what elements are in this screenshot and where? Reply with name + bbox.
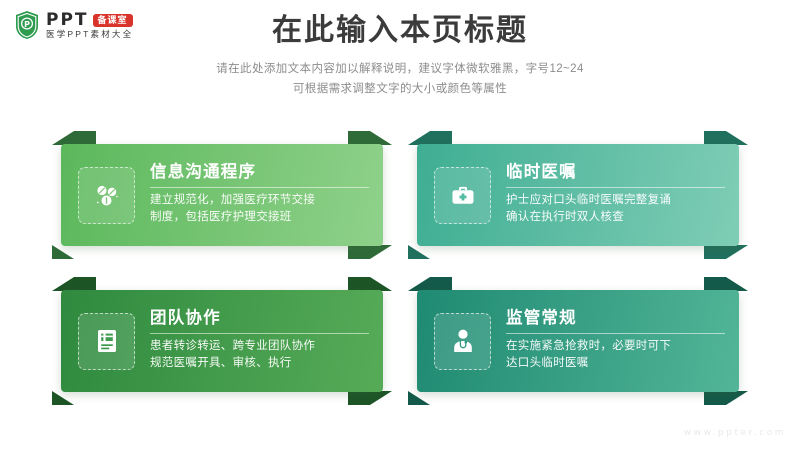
ribbon-fold-bottom-right — [704, 391, 748, 405]
card-body: 团队协作 患者转诊转运、跨专业团队协作 规范医嘱开具、审核、执行 — [61, 290, 383, 392]
card-text: 团队协作 患者转诊转运、跨专业团队协作 规范医嘱开具、审核、执行 — [150, 309, 369, 373]
ribbon-fold-top-right — [704, 277, 748, 291]
ribbon-fold-top-right — [348, 277, 392, 291]
subtitle-line: 可根据需求调整文字的大小或颜色等属性 — [0, 79, 800, 99]
card-text: 监管常规 在实施紧急抢救时，必要时可下 达口头临时医嘱 — [506, 309, 725, 373]
card-desc-line: 护士应对口头临时医嘱完整复诵 — [506, 192, 725, 210]
card-description: 在实施紧急抢救时，必要时可下 达口头临时医嘱 — [506, 338, 725, 374]
card-supervision-routine[interactable]: 监管常规 在实施紧急抢救时，必要时可下 达口头临时医嘱 — [408, 277, 748, 405]
card-info-communication[interactable]: 信息沟通程序 建立规范化，加强医疗环节交接 制度，包括医疗护理交接班 — [52, 131, 392, 259]
card-desc-line: 在实施紧急抢救时，必要时可下 — [506, 338, 725, 356]
ribbon-fold-top-left — [408, 131, 452, 145]
card-description: 建立规范化，加强医疗环节交接 制度，包括医疗护理交接班 — [150, 192, 369, 228]
card-desc-line: 制度，包括医疗护理交接班 — [150, 209, 369, 227]
page-title: 在此输入本页标题 — [0, 12, 800, 50]
icon-container — [434, 313, 491, 370]
card-text: 信息沟通程序 建立规范化，加强医疗环节交接 制度，包括医疗护理交接班 — [150, 163, 369, 227]
card-heading: 信息沟通程序 — [150, 163, 369, 188]
card-body: 监管常规 在实施紧急抢救时，必要时可下 达口头临时医嘱 — [417, 290, 739, 392]
ribbon-fold-top-left — [52, 277, 96, 291]
card-heading: 团队协作 — [150, 309, 369, 334]
ribbon-fold-bottom-left — [52, 391, 96, 405]
card-team-collaboration[interactable]: 团队协作 患者转诊转运、跨专业团队协作 规范医嘱开具、审核、执行 — [52, 277, 392, 405]
card-body: 临时医嘱 护士应对口头临时医嘱完整复诵 确认在执行时双人核查 — [417, 144, 739, 246]
card-description: 护士应对口头临时医嘱完整复诵 确认在执行时双人核查 — [506, 192, 725, 228]
card-heading: 临时医嘱 — [506, 163, 725, 188]
icon-container — [78, 313, 135, 370]
card-desc-line: 确认在执行时双人核查 — [506, 209, 725, 227]
slide-header: 在此输入本页标题 请在此处添加文本内容加以解释说明，建议字体微软雅黑，字号12~… — [0, 12, 800, 99]
ribbon-fold-bottom-right — [348, 391, 392, 405]
ribbon-fold-top-left — [52, 131, 96, 145]
ribbon-fold-top-right — [348, 131, 392, 145]
page-subtitle: 请在此处添加文本内容加以解释说明，建议字体微软雅黑，字号12~24 可根据需求调… — [0, 59, 800, 99]
subtitle-line: 请在此处添加文本内容加以解释说明，建议字体微软雅黑，字号12~24 — [0, 59, 800, 79]
ribbon-fold-bottom-left — [408, 391, 452, 405]
card-heading: 监管常规 — [506, 309, 725, 334]
icon-container — [434, 167, 491, 224]
card-text: 临时医嘱 护士应对口头临时医嘱完整复诵 确认在执行时双人核查 — [506, 163, 725, 227]
icon-container — [78, 167, 135, 224]
card-desc-line: 患者转诊转运、跨专业团队协作 — [150, 338, 369, 356]
site-watermark: www.ppter.com — [684, 428, 786, 438]
doctor-icon — [448, 326, 478, 356]
ribbon-fold-top-left — [408, 277, 452, 291]
cards-grid: 信息沟通程序 建立规范化，加强医疗环节交接 制度，包括医疗护理交接班 — [0, 131, 800, 411]
card-desc-line: 建立规范化，加强医疗环节交接 — [150, 192, 369, 210]
card-desc-line: 达口头临时医嘱 — [506, 355, 725, 373]
card-description: 患者转诊转运、跨专业团队协作 规范医嘱开具、审核、执行 — [150, 338, 369, 374]
ribbon-fold-bottom-right — [348, 245, 392, 259]
pills-icon — [92, 180, 122, 210]
clipboard-icon — [92, 326, 122, 356]
card-desc-line: 规范医嘱开具、审核、执行 — [150, 355, 369, 373]
card-temporary-orders[interactable]: 临时医嘱 护士应对口头临时医嘱完整复诵 确认在执行时双人核查 — [408, 131, 748, 259]
ribbon-fold-bottom-left — [52, 245, 96, 259]
card-body: 信息沟通程序 建立规范化，加强医疗环节交接 制度，包括医疗护理交接班 — [61, 144, 383, 246]
medical-bag-icon — [448, 180, 478, 210]
ribbon-fold-top-right — [704, 131, 748, 145]
ribbon-fold-bottom-right — [704, 245, 748, 259]
ribbon-fold-bottom-left — [408, 245, 452, 259]
